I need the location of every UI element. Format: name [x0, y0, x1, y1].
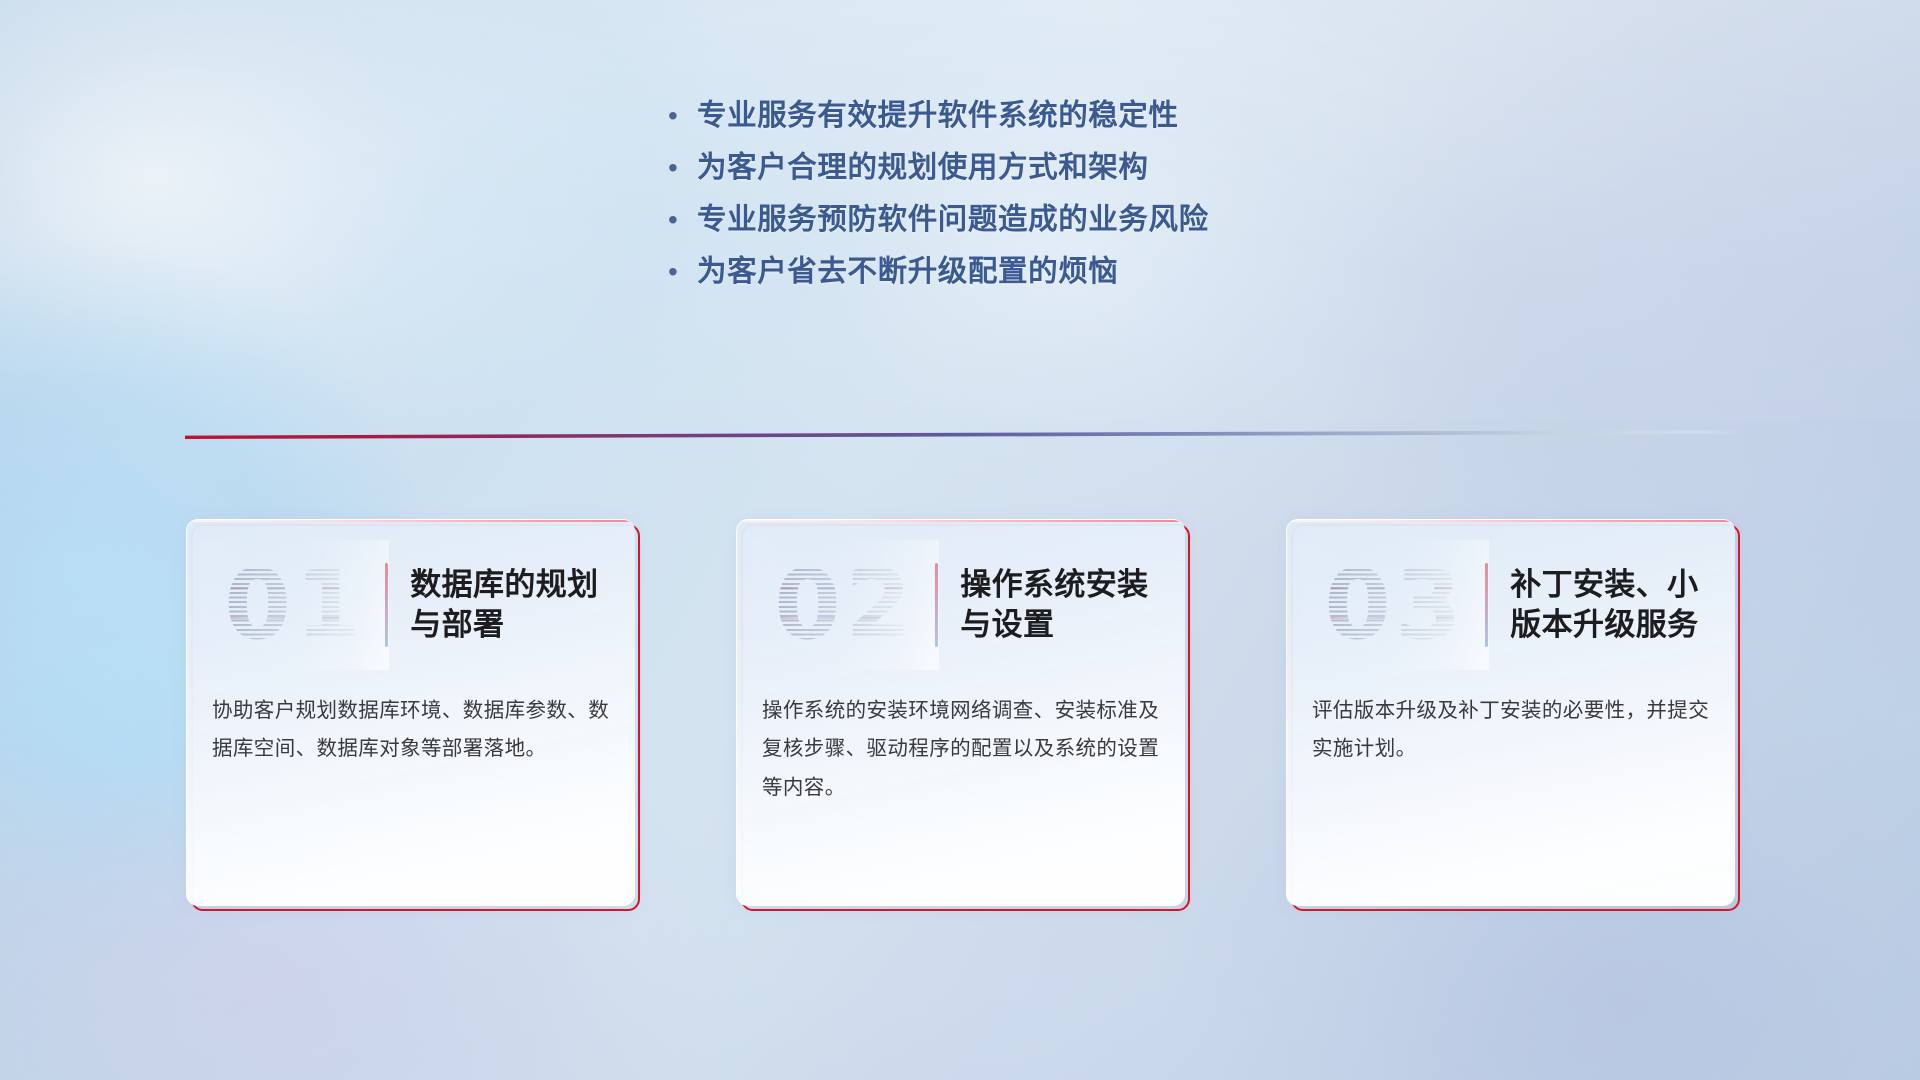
service-card[interactable]: 03 03 补丁安装、小版本升级服务 评估版本升级及补丁安装的必要性，并提交实施…: [1286, 519, 1735, 906]
card-divider-bar: [1485, 563, 1488, 647]
bullet-dot-icon: •: [663, 102, 697, 130]
card-title: 补丁安装、小版本升级服务: [1510, 565, 1719, 646]
list-item: • 专业服务预防软件问题造成的业务风险: [663, 196, 1209, 248]
service-card[interactable]: 02 02 操作系统安装与设置 操作系统的安装环境网络调查、安装标准及复核步骤、…: [736, 519, 1185, 906]
card-number-stripes-color: 01: [211, 546, 379, 664]
card-header: 02 02 操作系统安装与设置: [737, 546, 1169, 664]
card-surface: 03 03 补丁安装、小版本升级服务 评估版本升级及补丁安装的必要性，并提交实施…: [1286, 519, 1735, 906]
card-divider-bar: [385, 563, 388, 647]
card-number-graphic: 03 03: [1311, 546, 1479, 664]
card-description: 操作系统的安装环境网络调查、安装标准及复核步骤、驱动程序的配置以及系统的设置等内…: [762, 692, 1160, 807]
card-header: 01 01 数据库的规划与部署: [187, 546, 619, 664]
card-title: 数据库的规划与部署: [410, 565, 619, 646]
section-divider: [185, 430, 1745, 439]
card-number-graphic: 02 02: [761, 546, 929, 664]
bullet-dot-icon: •: [663, 258, 697, 286]
list-item-label: 专业服务有效提升软件系统的稳定性: [697, 92, 1179, 134]
list-item-label: 为客户合理的规划使用方式和架构: [697, 144, 1149, 186]
service-card[interactable]: 01 01 数据库的规划与部署 协助客户规划数据库环境、数据库参数、数据库空间、…: [186, 519, 635, 906]
card-number-graphic: 01 01: [211, 546, 379, 664]
card-description: 评估版本升级及补丁安装的必要性，并提交实施计划。: [1312, 692, 1710, 769]
card-number-stripes-color: 03: [1311, 546, 1479, 664]
list-item: • 专业服务有效提升软件系统的稳定性: [663, 92, 1209, 144]
card-header: 03 03 补丁安装、小版本升级服务: [1287, 546, 1719, 664]
list-item: • 为客户合理的规划使用方式和架构: [663, 144, 1209, 196]
service-card-group: 01 01 数据库的规划与部署 协助客户规划数据库环境、数据库参数、数据库空间、…: [0, 519, 1920, 909]
list-item: • 为客户省去不断升级配置的烦恼: [663, 248, 1209, 300]
bullet-dot-icon: •: [663, 206, 697, 234]
card-number-stripes-color: 02: [761, 546, 929, 664]
card-description: 协助客户规划数据库环境、数据库参数、数据库空间、数据库对象等部署落地。: [212, 692, 610, 769]
card-divider-bar: [935, 563, 938, 647]
divider-gradient-line: [185, 430, 1745, 439]
card-title: 操作系统安装与设置: [960, 565, 1169, 646]
bullet-dot-icon: •: [663, 154, 697, 182]
list-item-label: 为客户省去不断升级配置的烦恼: [697, 248, 1118, 290]
benefits-bullet-list: • 专业服务有效提升软件系统的稳定性 • 为客户合理的规划使用方式和架构 • 专…: [663, 92, 1209, 300]
list-item-label: 专业服务预防软件问题造成的业务风险: [697, 196, 1209, 238]
card-surface: 02 02 操作系统安装与设置 操作系统的安装环境网络调查、安装标准及复核步骤、…: [736, 519, 1185, 906]
card-surface: 01 01 数据库的规划与部署 协助客户规划数据库环境、数据库参数、数据库空间、…: [186, 519, 635, 906]
